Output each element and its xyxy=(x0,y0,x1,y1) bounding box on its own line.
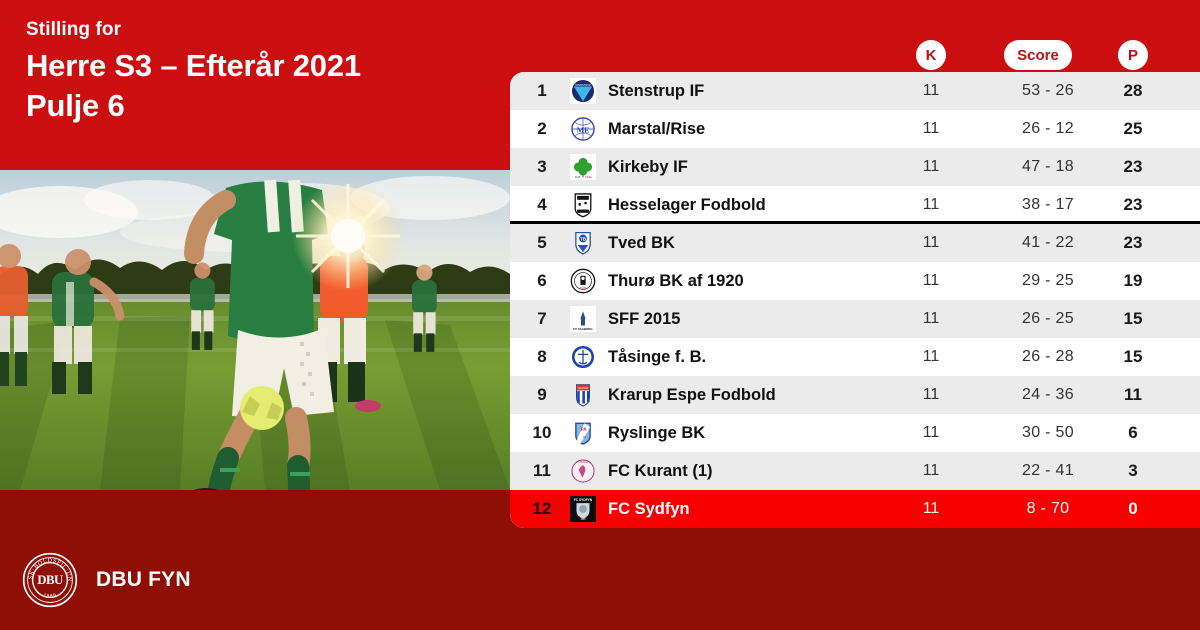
table-row[interactable]: 5TBTved BK1141 - 2223 xyxy=(510,224,1200,262)
row-rank: 8 xyxy=(520,347,564,367)
row-team-name[interactable]: FC Kurant (1) xyxy=(608,462,713,481)
svg-text:61: 61 xyxy=(583,435,587,439)
table-row[interactable]: 7FC FAABORGSFF 20151126 - 2515 xyxy=(510,300,1200,338)
row-rank: 3 xyxy=(520,157,564,177)
dbu-seal-icon: DANSK·BOLDSPIL·UNION 1889 DBU xyxy=(22,552,78,608)
row-points: 23 xyxy=(1111,157,1155,177)
row-points: 23 xyxy=(1111,233,1155,253)
row-points: 15 xyxy=(1111,309,1155,329)
table-row[interactable]: 10RB61Ryslinge BK1130 - 506 xyxy=(510,414,1200,452)
row-points: 6 xyxy=(1111,423,1155,443)
table-row[interactable]: 9KRARUPKrarup Espe Fodbold1124 - 3611 xyxy=(510,376,1200,414)
row-goal-score: 22 - 41 xyxy=(984,462,1112,480)
fc-kurant-logo: FC KURANT xyxy=(566,456,600,486)
row-rank: 2 xyxy=(520,119,564,139)
row-matches-played: 11 xyxy=(909,196,953,214)
svg-text:1920: 1920 xyxy=(580,286,586,290)
svg-text:KRARUP: KRARUP xyxy=(578,386,589,390)
row-team-name[interactable]: Krarup Espe Fodbold xyxy=(608,386,776,405)
row-matches-played: 11 xyxy=(909,234,953,252)
row-goal-score: 30 - 50 xyxy=(984,424,1112,442)
row-goal-score: 53 - 26 xyxy=(984,82,1112,100)
table-row[interactable]: 1STENSTRUPStenstrup IF1153 - 2628 xyxy=(510,72,1200,110)
row-goal-score: 26 - 12 xyxy=(984,120,1112,138)
row-goal-score: 41 - 22 xyxy=(984,234,1112,252)
table-row[interactable]: 2MEMarstal/Rise1126 - 1225 xyxy=(510,110,1200,148)
row-matches-played: 11 xyxy=(909,348,953,366)
page-title-line2: Pulje 6 xyxy=(26,86,496,126)
row-matches-played: 11 xyxy=(909,120,953,138)
row-rank: 12 xyxy=(520,499,564,519)
row-team-name[interactable]: FC Sydfyn xyxy=(608,500,690,519)
row-team-name[interactable]: SFF 2015 xyxy=(608,310,680,329)
table-row[interactable]: 11FC KURANTFC Kurant (1)1122 - 413 xyxy=(510,452,1200,490)
svg-text:KIF: KIF xyxy=(575,175,580,179)
svg-text:1944: 1944 xyxy=(585,175,592,179)
row-goal-score: 47 - 18 xyxy=(984,158,1112,176)
fc-sydfyn-logo: FC SYDFYN1995 xyxy=(566,494,600,524)
svg-text:1889: 1889 xyxy=(42,593,58,600)
svg-text:RB: RB xyxy=(581,427,587,431)
row-rank: 7 xyxy=(520,309,564,329)
row-team-name[interactable]: Tved BK xyxy=(608,234,675,253)
row-team-name[interactable]: Tåsinge f. B. xyxy=(608,348,706,367)
brand-name: DBU FYN xyxy=(96,568,191,592)
row-rank: 6 xyxy=(520,271,564,291)
row-goal-score: 26 - 25 xyxy=(984,310,1112,328)
row-rank: 4 xyxy=(520,195,564,215)
svg-text:FC SYDFYN: FC SYDFYN xyxy=(574,498,593,502)
table-row[interactable]: 61920Thurø BK af 19201129 - 2519 xyxy=(510,262,1200,300)
row-rank: 11 xyxy=(520,461,564,481)
row-points: 3 xyxy=(1111,461,1155,481)
table-row[interactable]: 4Hesselager Fodbold1138 - 1723 xyxy=(510,186,1200,224)
row-points: 0 xyxy=(1111,499,1155,519)
marstal-rise-logo: ME xyxy=(566,114,600,144)
row-team-name[interactable]: Kirkeby IF xyxy=(608,158,688,177)
row-team-name[interactable]: Marstal/Rise xyxy=(608,120,705,139)
column-header-k: K xyxy=(916,40,946,70)
table-row[interactable]: 3KIF1944Kirkeby IF1147 - 1823 xyxy=(510,148,1200,186)
row-points: 19 xyxy=(1111,271,1155,291)
standings-table: 1STENSTRUPStenstrup IF1153 - 26282MEMars… xyxy=(510,72,1200,528)
row-points: 25 xyxy=(1111,119,1155,139)
column-header-p: P xyxy=(1118,40,1148,70)
row-goal-score: 38 - 17 xyxy=(984,196,1112,214)
row-points: 11 xyxy=(1111,385,1155,405)
row-team-name[interactable]: Thurø BK af 1920 xyxy=(608,272,744,291)
svg-text:FC FAABORG: FC FAABORG xyxy=(573,327,593,331)
krarup-espe-logo: KRARUP xyxy=(566,380,600,410)
table-row[interactable]: 12FC SYDFYN1995FC Sydfyn118 - 700 xyxy=(510,490,1200,528)
sff-2015-logo: FC FAABORG xyxy=(566,304,600,334)
table-row[interactable]: 8Tåsinge f. B.1126 - 2815 xyxy=(510,338,1200,376)
row-team-name[interactable]: Hesselager Fodbold xyxy=(608,196,766,215)
thuroe-bk-logo: 1920 xyxy=(566,266,600,296)
row-team-name[interactable]: Ryslinge BK xyxy=(608,424,705,443)
row-matches-played: 11 xyxy=(909,462,953,480)
row-goal-score: 26 - 28 xyxy=(984,348,1112,366)
row-points: 23 xyxy=(1111,195,1155,215)
table-header-badges: K Score P xyxy=(0,0,1200,72)
row-rank: 1 xyxy=(520,81,564,101)
ryslinge-bk-logo: RB61 xyxy=(566,418,600,448)
tved-bk-logo: TB xyxy=(566,228,600,258)
kirkeby-if-logo: KIF1944 xyxy=(566,152,600,182)
row-matches-played: 11 xyxy=(909,386,953,404)
row-goal-score: 29 - 25 xyxy=(984,272,1112,290)
svg-text:TB: TB xyxy=(580,236,587,241)
row-matches-played: 11 xyxy=(909,310,953,328)
hesselager-fodbold-logo xyxy=(566,190,600,220)
row-matches-played: 11 xyxy=(909,424,953,442)
row-points: 15 xyxy=(1111,347,1155,367)
svg-text:FC KURANT: FC KURANT xyxy=(577,461,591,464)
brand-logo-row: DANSK·BOLDSPIL·UNION 1889 DBU DBU FYN xyxy=(22,552,191,608)
row-matches-played: 11 xyxy=(909,272,953,290)
row-matches-played: 11 xyxy=(909,82,953,100)
row-rank: 9 xyxy=(520,385,564,405)
row-matches-played: 11 xyxy=(909,500,953,518)
row-rank: 10 xyxy=(520,423,564,443)
row-goal-score: 24 - 36 xyxy=(984,386,1112,404)
column-header-score: Score xyxy=(1004,40,1072,70)
standings-graphic: Stilling for Herre S3 – Efterår 2021 Pul… xyxy=(0,0,1200,630)
svg-text:ME: ME xyxy=(577,125,590,134)
row-rank: 5 xyxy=(520,233,564,253)
row-matches-played: 11 xyxy=(909,158,953,176)
stenstrup-if-logo: STENSTRUP xyxy=(566,76,600,106)
row-points: 28 xyxy=(1111,81,1155,101)
taasinge-fb-logo xyxy=(566,342,600,372)
row-goal-score: 8 - 70 xyxy=(984,500,1112,518)
svg-text:DBU: DBU xyxy=(37,573,63,587)
row-team-name[interactable]: Stenstrup IF xyxy=(608,82,704,101)
svg-text:STENSTRUP: STENSTRUP xyxy=(575,83,591,87)
svg-text:1995: 1995 xyxy=(580,519,586,521)
football-match-photo xyxy=(0,170,510,490)
